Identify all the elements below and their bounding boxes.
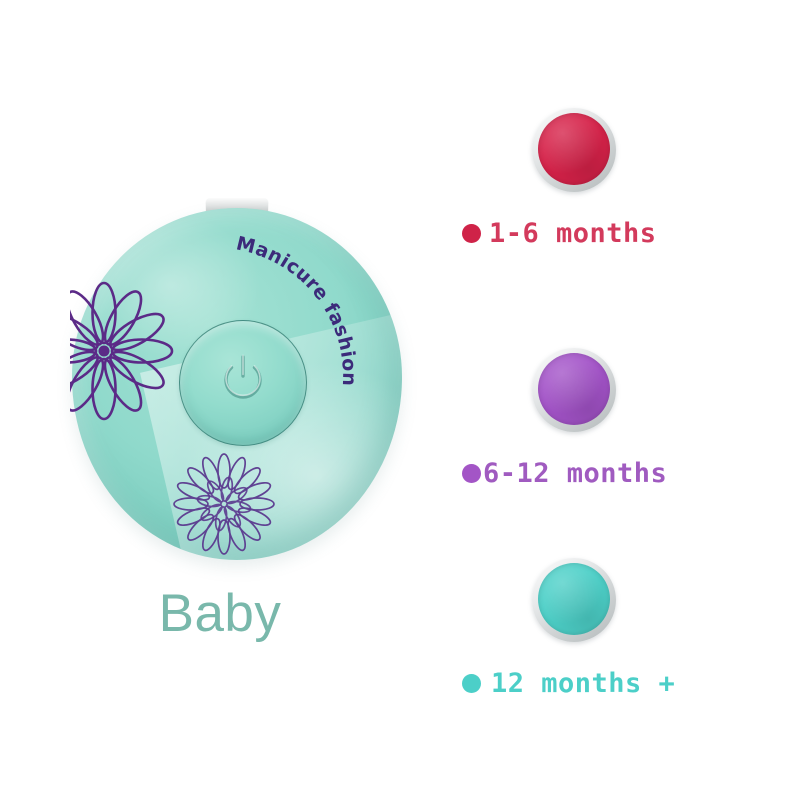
grinding-head-pad-pink — [538, 113, 610, 185]
age-range-label: 12 months + — [491, 668, 675, 699]
power-button[interactable] — [179, 320, 307, 446]
age-range-label: 6-12 months — [483, 458, 667, 489]
bullet-dot-icon — [462, 674, 481, 693]
grinding-heads-panel: 1-6 months 6-12 months 12 months + — [440, 0, 800, 800]
product-image-canvas: Manicure fashion Baby — [0, 0, 800, 800]
baby-nail-trimmer-device[interactable]: Manicure fashion — [72, 198, 402, 564]
bullet-dot-icon — [462, 224, 481, 243]
age-range-label: 1-6 months — [489, 218, 657, 249]
grinding-head-group-3: 12 months + — [440, 558, 800, 699]
grinding-head-label-2: 6-12 months — [440, 458, 800, 489]
grinding-head-disc[interactable] — [532, 558, 616, 642]
grinding-head-label-1: 1-6 months — [440, 218, 800, 249]
grinding-head-group-2: 6-12 months — [440, 348, 800, 489]
power-icon — [216, 351, 270, 407]
grinding-head-pad-purple — [538, 353, 610, 425]
bullet-dot-icon — [462, 464, 481, 483]
grinding-head-pad-teal — [538, 563, 610, 635]
product-panel: Manicure fashion Baby — [0, 0, 440, 800]
grinding-head-label-3: 12 months + — [440, 668, 800, 699]
baby-caption-label: Baby — [0, 583, 440, 644]
grinding-head-group-1: 1-6 months — [440, 108, 800, 249]
grinding-head-disc[interactable] — [532, 108, 616, 192]
grinding-head-disc[interactable] — [532, 348, 616, 432]
